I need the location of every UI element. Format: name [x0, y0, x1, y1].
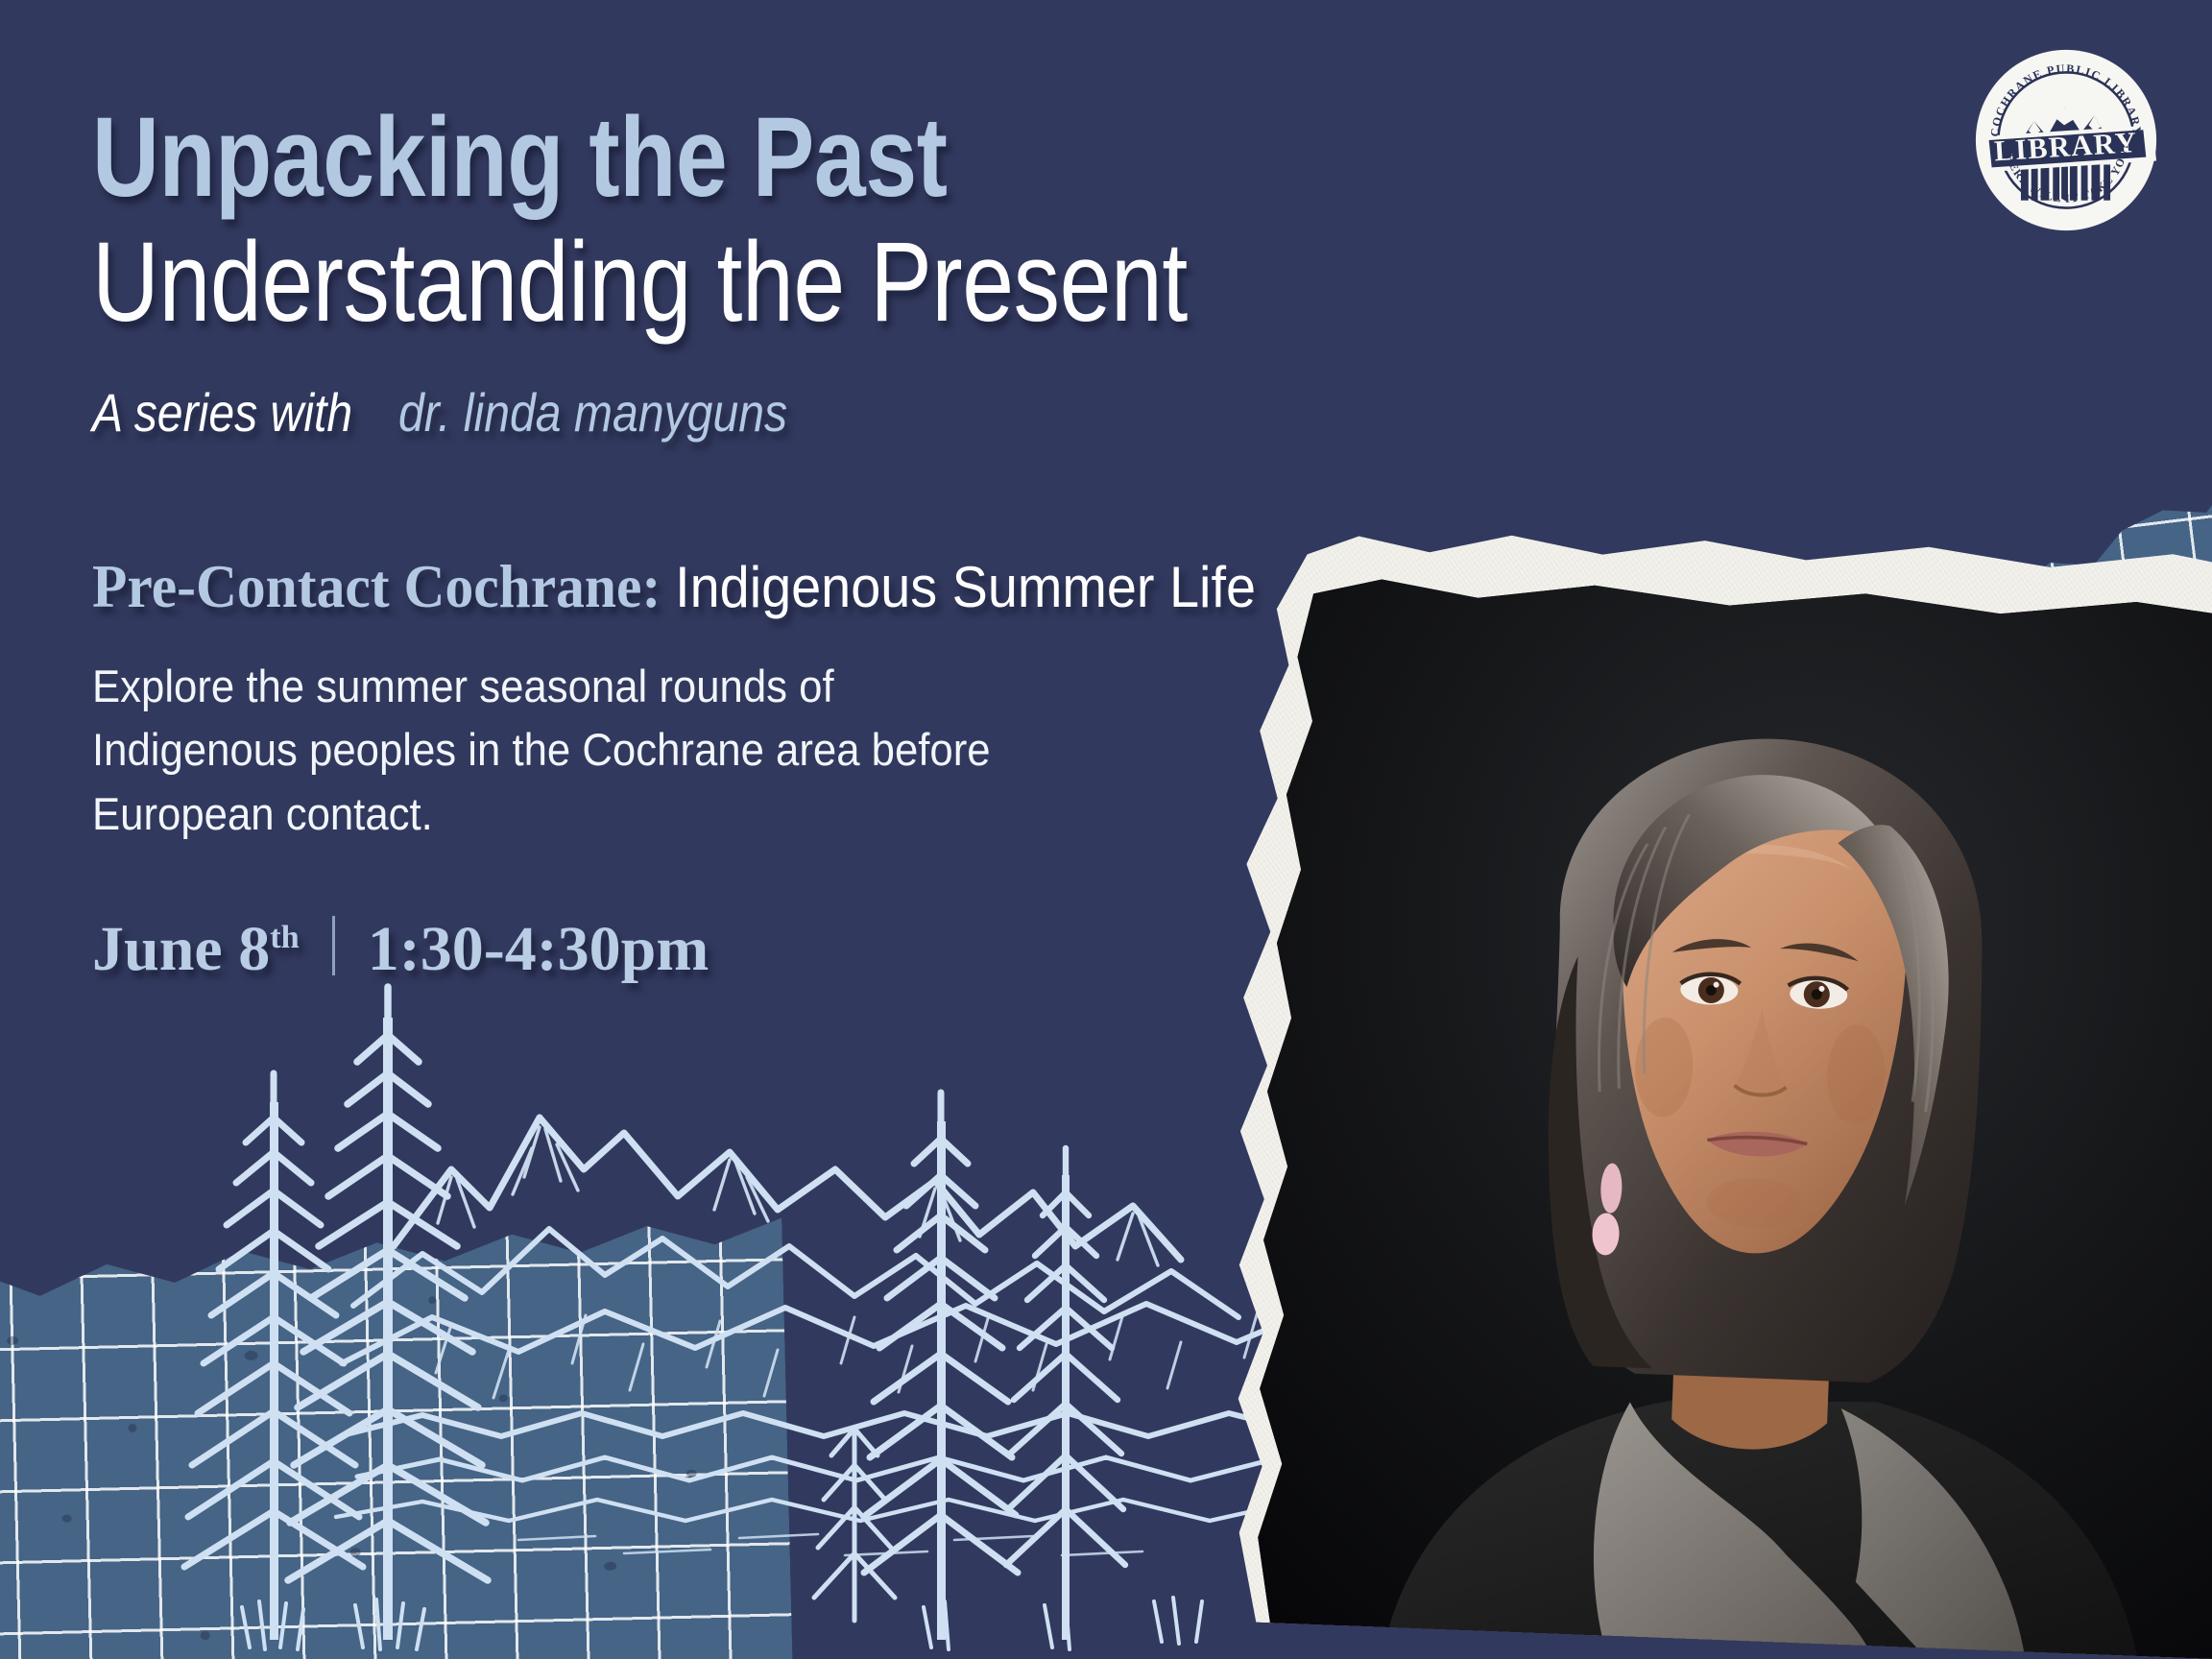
- session-heading-topic: Pre-Contact Cochrane:: [92, 552, 661, 620]
- session-heading-subject: Indigenous Summer Life: [675, 555, 1256, 619]
- event-date-ordinal-suffix: th: [270, 919, 300, 955]
- description-line: European contact.: [92, 782, 1288, 847]
- poster-text-content: Unpacking the Past Understanding the Pre…: [92, 0, 1379, 986]
- description-line: Explore the summer seasonal rounds of: [92, 655, 1288, 719]
- event-datetime: June 8th 1:30-4:30pm: [92, 910, 1379, 986]
- page-title-line-1: Unpacking the Past: [92, 100, 1147, 215]
- series-subtitle: A series with dr. linda manyguns: [92, 381, 1198, 444]
- session-heading: Pre-Contact Cochrane: Indigenous Summer …: [92, 551, 1288, 622]
- event-date: June 8th: [92, 913, 300, 986]
- presenter-name-label: dr. linda manyguns: [398, 382, 787, 443]
- grid-texture-patch-left: [0, 1188, 793, 1659]
- session-description: Explore the summer seasonal rounds of In…: [92, 655, 1288, 847]
- description-line: Indigenous peoples in the Cochrane area …: [92, 718, 1288, 782]
- event-poster: Unpacking the Past Understanding the Pre…: [0, 0, 2212, 1659]
- event-time-range: 1:30-4:30pm: [368, 913, 709, 986]
- cochrane-public-library-logo: LIBRARY COCHRANE PUBLIC LIBRARY WHERE WI…: [1972, 46, 2160, 234]
- event-date-text: June 8: [92, 914, 270, 984]
- series-prefix-label: A series with: [92, 382, 352, 443]
- presenter-portrait: [1245, 561, 2212, 1659]
- datetime-divider: [332, 916, 335, 975]
- page-title-line-2: Understanding the Present: [92, 225, 1147, 340]
